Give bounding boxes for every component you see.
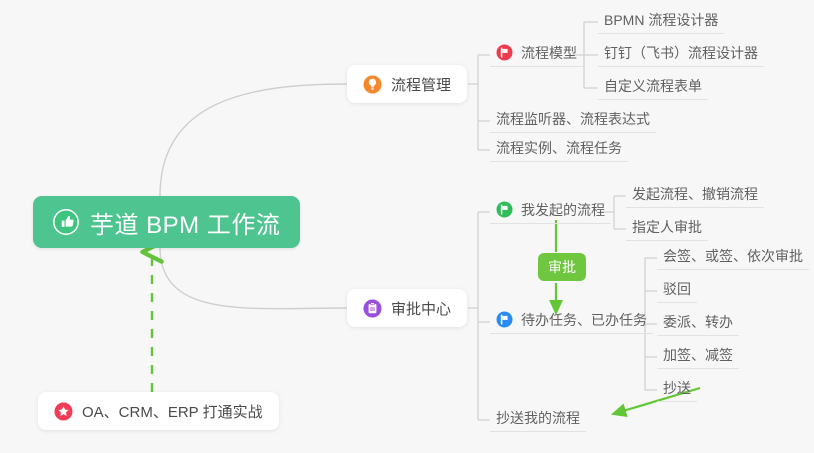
node-start-cancel-process[interactable]: 发起流程、撤销流程 [626, 184, 764, 208]
node-process-listener-expression[interactable]: 流程监听器、流程表达式 [490, 109, 656, 133]
label-cc: 抄送 [663, 378, 691, 398]
thumbs-up-icon [53, 209, 79, 235]
integration-callout-node[interactable]: OA、CRM、ERP 打通实战 [38, 392, 279, 430]
label-bpmn-designer: BPMN 流程设计器 [604, 10, 718, 30]
node-process-model[interactable]: 流程模型 [490, 43, 583, 67]
approval-tag-label: 审批 [548, 257, 576, 277]
node-assignee-approval[interactable]: 指定人审批 [626, 217, 708, 241]
node-cc-to-me-process[interactable]: 抄送我的流程 [490, 408, 586, 432]
node-process-instance-task[interactable]: 流程实例、流程任务 [490, 138, 628, 162]
node-delegate-transfer[interactable]: 委派、转办 [657, 312, 739, 336]
link-root-to-process-management [160, 84, 347, 196]
label-process-instance-task: 流程实例、流程任务 [496, 138, 622, 158]
integration-callout-label: OA、CRM、ERP 打通实战 [82, 401, 263, 422]
label-process-model: 流程模型 [521, 43, 577, 63]
branch-node-process-management[interactable]: 流程管理 [347, 65, 467, 103]
node-dingtalk-feishu-designer[interactable]: 钉钉（飞书）流程设计器 [598, 43, 764, 67]
label-custom-process-form: 自定义流程表单 [604, 76, 702, 96]
flag-icon [496, 44, 513, 61]
node-reject[interactable]: 驳回 [657, 279, 697, 303]
root-label: 芋道 BPM 工作流 [90, 205, 280, 240]
node-custom-process-form[interactable]: 自定义流程表单 [598, 76, 708, 100]
label-add-remove-sign: 加签、减签 [663, 345, 733, 365]
branch-node-approval-center[interactable]: 审批中心 [347, 289, 467, 327]
label-countersign-orsign-sequential: 会签、或签、依次审批 [663, 246, 803, 266]
label-cc-to-me-process: 抄送我的流程 [496, 408, 580, 428]
label-my-initiated-process: 我发起的流程 [521, 200, 605, 220]
label-todo-done-tasks: 待办任务、已办任务 [521, 310, 647, 330]
label-start-cancel-process: 发起流程、撤销流程 [632, 184, 758, 204]
node-cc[interactable]: 抄送 [657, 378, 697, 402]
branch-label-approval-center: 审批中心 [391, 298, 451, 319]
link-root-to-approval-center [160, 247, 347, 309]
root-node[interactable]: 芋道 BPM 工作流 [33, 196, 300, 248]
node-todo-done-tasks[interactable]: 待办任务、已办任务 [490, 310, 653, 334]
label-process-listener-expression: 流程监听器、流程表达式 [496, 109, 650, 129]
lightbulb-icon [363, 75, 382, 94]
branch-label-process-management: 流程管理 [391, 74, 451, 95]
label-dingtalk-feishu-designer: 钉钉（飞书）流程设计器 [604, 43, 758, 63]
node-countersign-orsign-sequential[interactable]: 会签、或签、依次审批 [657, 246, 809, 270]
label-assignee-approval: 指定人审批 [632, 217, 702, 237]
approval-tag: 审批 [538, 253, 586, 281]
node-bpmn-designer[interactable]: BPMN 流程设计器 [598, 10, 724, 34]
flag-icon [496, 311, 513, 328]
star-icon [54, 402, 73, 421]
label-reject: 驳回 [663, 279, 691, 299]
node-add-remove-sign[interactable]: 加签、减签 [657, 345, 739, 369]
mindmap-canvas: 芋道 BPM 工作流 流程管理 流程模型 BPMN 流程设计器 钉钉（飞书 [0, 0, 814, 453]
clipboard-icon [363, 299, 382, 318]
label-delegate-transfer: 委派、转办 [663, 312, 733, 332]
node-my-initiated-process[interactable]: 我发起的流程 [490, 200, 611, 224]
flag-icon [496, 201, 513, 218]
